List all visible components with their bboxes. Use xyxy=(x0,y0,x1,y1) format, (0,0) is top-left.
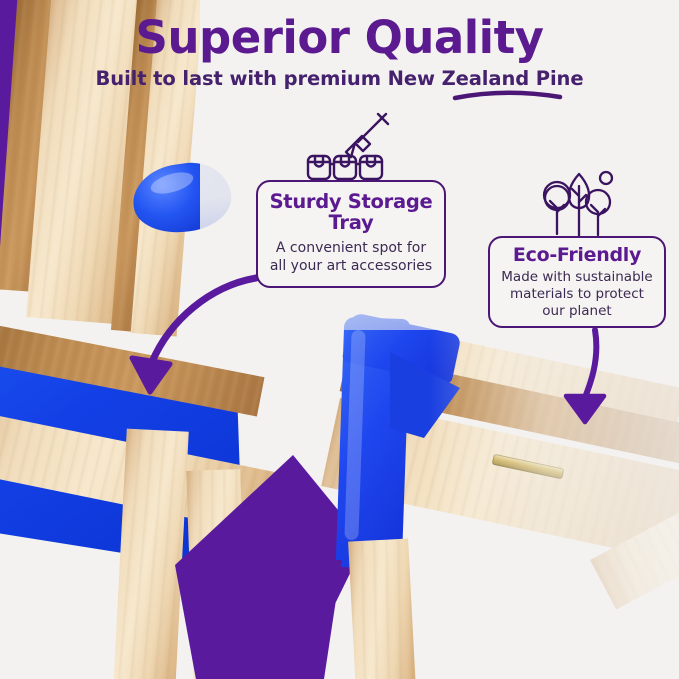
callout-title: Sturdy Storage Tray xyxy=(268,191,434,233)
headline-block: Superior Quality Built to last with prem… xyxy=(0,14,679,90)
callout-card-sturdy-storage-tray[interactable]: Sturdy Storage Tray A convenient spot fo… xyxy=(256,180,446,288)
page-subtitle: Built to last with premium New Zealand P… xyxy=(0,67,679,90)
callout-title: Eco-Friendly xyxy=(498,245,656,266)
product-photo xyxy=(0,0,679,679)
page-title: Superior Quality xyxy=(0,14,679,61)
infographic-canvas: Superior Quality Built to last with prem… xyxy=(0,0,679,679)
callout-card-eco-friendly[interactable]: Eco-Friendly Made with sustainable mater… xyxy=(488,236,666,328)
brand-shape-bottom-triangle xyxy=(232,560,342,679)
callout-description: A convenient spot for all your art acces… xyxy=(268,239,434,275)
trees-sun-icon xyxy=(540,168,618,240)
photo-scrim-right xyxy=(430,0,679,679)
paint-pots-brush-icon xyxy=(300,112,392,184)
easel-leg-right xyxy=(348,539,416,679)
callout-description: Made with sustainable materials to prote… xyxy=(498,269,656,321)
